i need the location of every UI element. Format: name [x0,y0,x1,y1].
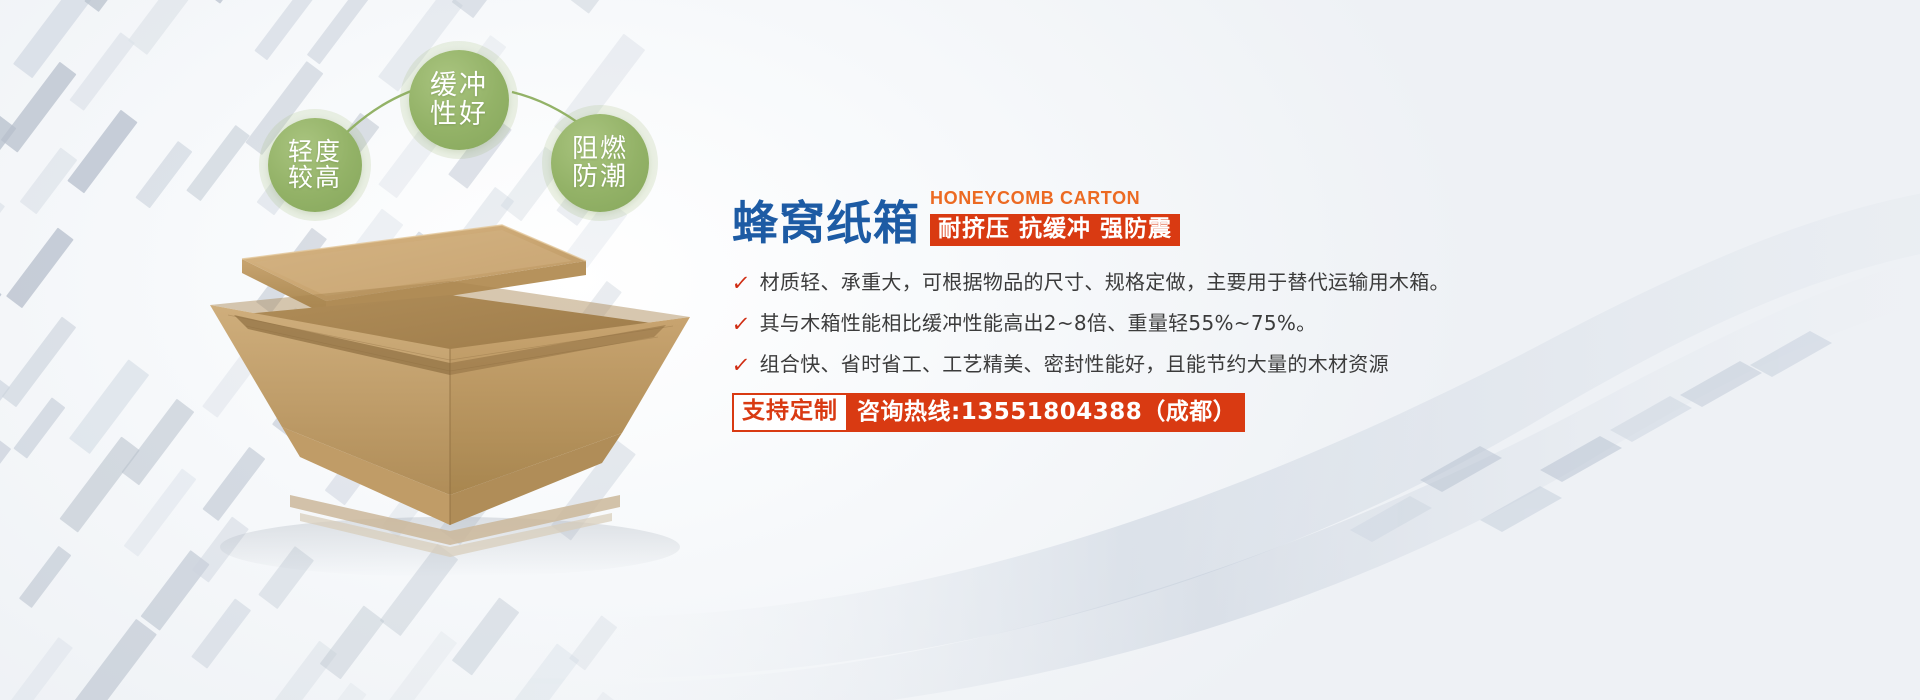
feature-circle-lightweight-line2: 较高 [288,165,342,192]
custom-order-badge: 支持定制 [732,393,848,432]
product-image-honeycomb-carton [150,195,770,585]
heading-secondary: HONEYCOMB CARTON 耐挤压 抗缓冲 强防震 [930,188,1180,248]
heading-row: 蜂窝纸箱 HONEYCOMB CARTON 耐挤压 抗缓冲 强防震 [732,188,1852,248]
list-item: ✓ 其与木箱性能相比缓冲性能高出2~8倍、重量轻55%~75%。 [732,311,1852,336]
feature-circle-cushioning-line1: 缓冲 [430,71,488,100]
banner-content: 蜂窝纸箱 HONEYCOMB CARTON 耐挤压 抗缓冲 强防震 ✓ 材质轻、… [732,188,1852,432]
feature-bullet-list: ✓ 材质轻、承重大，可根据物品的尺寸、规格定做，主要用于替代运输用木箱。 ✓ 其… [732,270,1852,377]
contact-bar: 支持定制 咨询热线:13551804388（成都） [732,393,1852,432]
feature-circle-lightweight-line1: 轻度 [288,139,342,166]
bullet-text: 材质轻、承重大，可根据物品的尺寸、规格定做，主要用于替代运输用木箱。 [760,270,1450,295]
check-icon: ✓ [731,314,752,335]
tagline-badge: 耐挤压 抗缓冲 强防震 [930,214,1180,247]
feature-circle-flame-moisture-line2: 防潮 [572,163,628,191]
check-icon: ✓ [731,355,752,376]
list-item: ✓ 组合快、省时省工、工艺精美、密封性能好，且能节约大量的木材资源 [732,352,1852,377]
list-item: ✓ 材质轻、承重大，可根据物品的尺寸、规格定做，主要用于替代运输用木箱。 [732,270,1852,295]
feature-circle-cushioning-line2: 性好 [430,100,488,129]
bullet-text: 其与木箱性能相比缓冲性能高出2~8倍、重量轻55%~75%。 [760,311,1317,336]
check-icon: ✓ [731,273,752,294]
feature-circle-flame-moisture-line1: 阻燃 [572,135,628,163]
promo-banner: 轻度 较高 缓冲 性好 阻燃 防潮 [0,0,1920,700]
page-subtitle-en: HONEYCOMB CARTON [930,188,1180,210]
page-title: 蜂窝纸箱 [732,200,920,246]
hotline-phone[interactable]: 咨询热线:13551804388（成都） [848,393,1245,432]
feature-circle-cushioning: 缓冲 性好 [409,50,509,150]
bullet-text: 组合快、省时省工、工艺精美、密封性能好，且能节约大量的木材资源 [760,352,1389,377]
carton-body [210,281,690,525]
